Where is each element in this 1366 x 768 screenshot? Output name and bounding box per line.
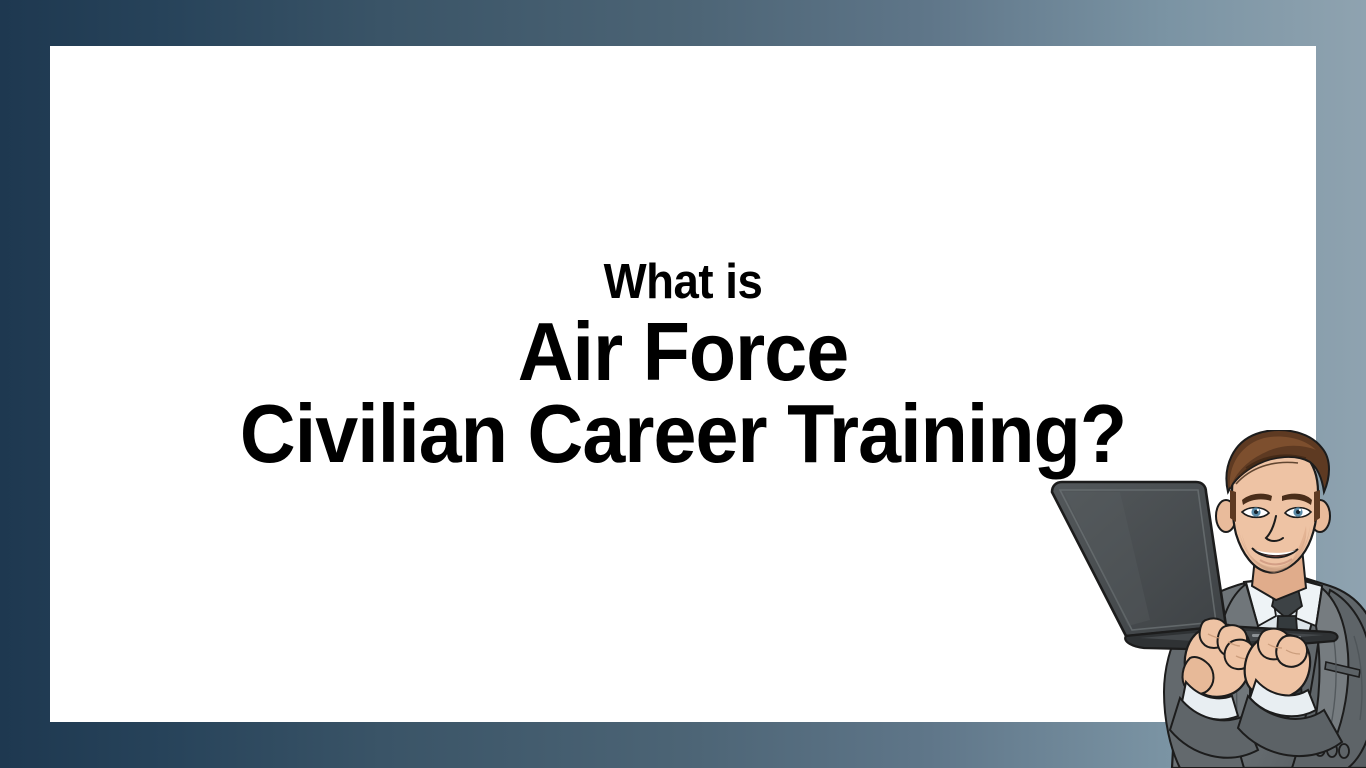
slide-canvas: What is Air Force Civilian Career Traini… bbox=[0, 0, 1366, 768]
headline-line-2: Air Force bbox=[94, 313, 1271, 391]
headline-line-1: What is bbox=[94, 251, 1271, 313]
headline-line-3: Civilian Career Training? bbox=[94, 395, 1271, 473]
page-title: What is Air Force Civilian Career Traini… bbox=[50, 46, 1316, 473]
sleeve-buttons bbox=[1303, 741, 1349, 758]
content-card: What is Air Force Civilian Career Traini… bbox=[50, 46, 1316, 722]
